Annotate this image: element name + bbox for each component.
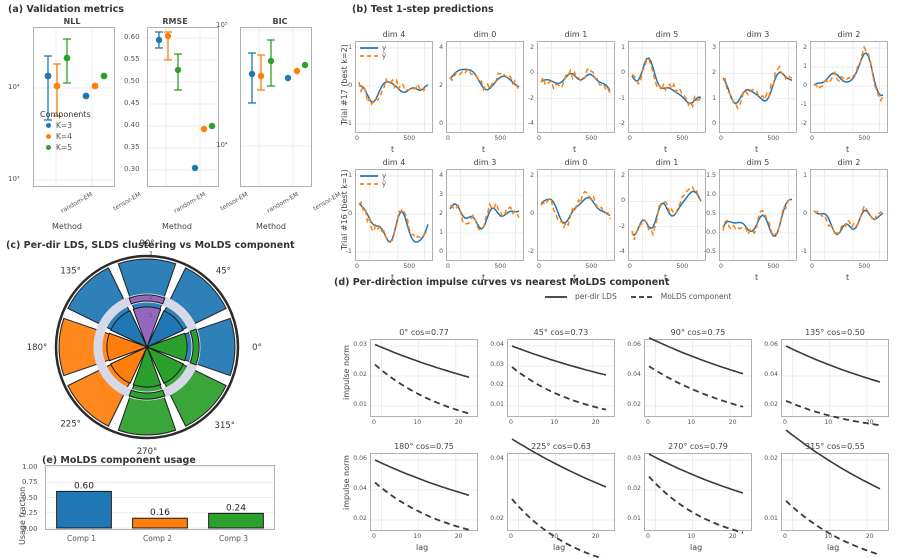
panel-d-subplot-title: 315° cos=0.55 xyxy=(781,442,889,451)
panel-d-legend: per-dir LDS MoLDS component xyxy=(545,292,731,301)
ytick: -2 xyxy=(801,120,807,127)
legend-dot-icon xyxy=(46,145,51,150)
legend-item-k3[interactable]: K=3 xyxy=(40,121,112,130)
legend-label: K=3 xyxy=(56,121,72,130)
xtick: 500 xyxy=(676,135,688,142)
panel-d-xtick: 20 xyxy=(729,533,737,540)
ytick: 3 xyxy=(712,44,716,51)
subplot-axes: yŷ xyxy=(355,169,433,261)
panel-b-cell: dim 4yŷ10-10500t xyxy=(355,30,433,133)
subplot-title: dim 4 xyxy=(355,30,433,39)
subplot-title: dim 1 xyxy=(628,158,706,167)
panel-e-ytick: 1.00 xyxy=(22,463,38,471)
xtick: 500 xyxy=(585,263,597,270)
panel-b-title: (b) Test 1-step predictions xyxy=(352,4,494,15)
ytick: 1 xyxy=(439,229,443,236)
subplot-axes xyxy=(719,41,797,133)
xtick: 500 xyxy=(858,135,870,142)
panel-e-xtick: Comp 1 xyxy=(67,534,96,543)
polar-radial-tick: 2 xyxy=(149,295,153,301)
ytick: 2 xyxy=(439,210,443,217)
panel-d-cell: 225° cos=0.630.040.0201020lag xyxy=(507,442,615,531)
panel-c-polar[interactable]: 0°45°90°135°180°225°270°315°123 xyxy=(14,252,314,447)
bar-value-label: 0.60 xyxy=(74,481,94,491)
xlabel: t xyxy=(482,145,485,154)
panel-d-xtick: 10 xyxy=(550,533,558,540)
xtick: 0 xyxy=(537,263,541,270)
subplot-axes xyxy=(719,169,797,261)
panel-e-ytick: 0.75 xyxy=(22,478,38,486)
panel-d-ytick: 0.04 xyxy=(490,341,504,348)
panel-d-axes xyxy=(781,453,889,531)
xtick: 500 xyxy=(403,263,415,270)
panel-b-cell: dim 332100500t xyxy=(719,30,797,133)
subplot-axes xyxy=(446,169,524,261)
panel-a-rmse-xtick-0: random-EM xyxy=(173,191,207,215)
subplot-title: dim 5 xyxy=(628,30,706,39)
bar[interactable] xyxy=(133,518,188,528)
ytick: 1 xyxy=(348,44,352,51)
panel-a-rmse-ytick-6: 0.30 xyxy=(124,165,140,173)
panel-d-subplot-title: 0° cos=0.77 xyxy=(370,328,478,337)
panel-d-axes xyxy=(370,339,478,417)
subplot-title: dim 0 xyxy=(537,158,615,167)
xtick: 0 xyxy=(628,263,632,270)
panel-d-xtick: 20 xyxy=(866,419,874,426)
panel-d-ytick: 0.06 xyxy=(627,341,641,348)
subplot-title: dim 2 xyxy=(810,30,888,39)
ytick: 1 xyxy=(712,95,716,102)
panel-a-title: (a) Validation metrics xyxy=(8,4,124,15)
ytick: 0 xyxy=(803,210,807,217)
panel-a-rmse-ytick-5: 0.35 xyxy=(124,143,140,151)
xtick: 500 xyxy=(494,263,506,270)
xtick: 500 xyxy=(858,263,870,270)
panel-d-ytick: 0.02 xyxy=(353,371,367,378)
panel-d-ytick: 0.02 xyxy=(627,485,641,492)
panel-d-cell: 270° cos=0.790.030.020.0101020lag xyxy=(644,442,752,531)
panel-b-cell: dim 4yŷ10-10500t xyxy=(355,158,433,261)
xtick: 0 xyxy=(446,135,450,142)
panel-d-xtick: 0 xyxy=(646,533,650,540)
legend-solid-icon xyxy=(545,294,567,300)
xlabel: t xyxy=(846,273,849,282)
legend-item[interactable]: y xyxy=(360,172,386,180)
ytick: 0.5 xyxy=(706,210,716,217)
ytick: 2 xyxy=(439,82,443,89)
panel-a-rmse-ytick-4: 0.40 xyxy=(124,121,140,129)
panel-b-cell: dim 120-2-40500t xyxy=(537,30,615,133)
legend-item[interactable]: y xyxy=(360,44,386,52)
panel-d-cell: 315° cos=0.550.020.0101020lag xyxy=(781,442,889,531)
panel-d-xtick: 10 xyxy=(550,419,558,426)
subplot-axes xyxy=(810,169,888,261)
polar-angle-label: 45° xyxy=(216,267,231,277)
panel-a-rmse-ytick-1: 0.55 xyxy=(124,55,140,63)
panel-d-ytick: 0.06 xyxy=(353,455,367,462)
panel-d-axes xyxy=(644,339,752,417)
panel-d-xtick: 10 xyxy=(413,419,421,426)
panel-d-subplot-title: 180° cos=0.75 xyxy=(370,442,478,451)
subplot-title: dim 3 xyxy=(446,158,524,167)
panel-d-xlabel: lag xyxy=(553,543,565,552)
panel-a-nll-axes: Components K=3 K=4 K=5 xyxy=(33,27,115,187)
panel-d-ytick: 0.03 xyxy=(627,455,641,462)
xtick: 0 xyxy=(810,135,814,142)
ytick: 0 xyxy=(439,248,443,255)
panel-d-ytick: 0.02 xyxy=(764,401,778,408)
ytick: 1.5 xyxy=(706,172,716,179)
subplot-title: dim 1 xyxy=(537,30,615,39)
ytick: 3 xyxy=(439,191,443,198)
panel-b-legend: yŷ xyxy=(360,172,386,188)
ytick: -2 xyxy=(528,248,534,255)
panel-a-bic-xtick-0: random-EM xyxy=(266,191,300,215)
panel-d-ytick: 0.06 xyxy=(764,341,778,348)
xlabel: t xyxy=(846,145,849,154)
ytick: 0 xyxy=(530,69,534,76)
ytick: -1 xyxy=(346,248,352,255)
panel-d-xlabel: lag xyxy=(416,543,428,552)
panel-e-ytick: 0.00 xyxy=(22,525,38,533)
panel-d-cell: 90° cos=0.750.060.040.0201020 xyxy=(644,328,752,417)
panel-d-ytick: 0.01 xyxy=(490,401,504,408)
panel-d-xtick: 20 xyxy=(455,533,463,540)
panel-d-xtick: 10 xyxy=(824,419,832,426)
ytick: 2 xyxy=(621,172,625,179)
panel-d-cell: 135° cos=0.500.060.040.0201020 xyxy=(781,328,889,417)
panel-a-rmse-xlabel: Method xyxy=(162,222,192,231)
ytick: 0 xyxy=(712,120,716,127)
xlabel: t xyxy=(573,145,576,154)
panel-a-rmse-ytick-0: 0.60 xyxy=(124,33,140,41)
panel-a-legend: Components K=3 K=4 K=5 xyxy=(40,110,112,152)
subplot-axes: yŷ xyxy=(355,41,433,133)
panel-d-xtick: 10 xyxy=(413,533,421,540)
panel-d-ytick: 0.02 xyxy=(490,515,504,522)
panel-b-cell: dim 510-1-20500t xyxy=(628,30,706,133)
subplot-axes xyxy=(628,41,706,133)
panel-a-nll-ytick-0: 10⁴ xyxy=(8,83,20,91)
legend-label: y xyxy=(382,44,386,52)
panel-b-cell: dim 3432100500t xyxy=(446,158,524,261)
panel-d-ytick: 0.01 xyxy=(627,515,641,522)
ytick: 1 xyxy=(348,172,352,179)
bar-value-label: 0.24 xyxy=(226,503,246,513)
panel-b-cell: dim 120-2-40500t xyxy=(628,158,706,261)
polar-angle-label: 225° xyxy=(60,419,80,429)
ytick: -4 xyxy=(528,120,534,127)
panel-a-rmse-axes xyxy=(147,27,219,187)
panel-d-ytick: 0.04 xyxy=(490,455,504,462)
ytick: 0.0 xyxy=(706,229,716,236)
panel-d-axes xyxy=(644,453,752,531)
ytick: 0 xyxy=(348,82,352,89)
panel-d-row0-ylabel: impulse norm xyxy=(342,345,351,400)
legend-label: K=4 xyxy=(56,132,72,141)
xtick: 500 xyxy=(676,263,688,270)
xtick: 0 xyxy=(719,263,723,270)
polar-angle-label: 0° xyxy=(252,343,262,353)
xtick: 0 xyxy=(810,263,814,270)
panel-e-axes: 0.600.160.24 xyxy=(45,465,275,530)
xtick: 0 xyxy=(537,135,541,142)
subplot-title: dim 3 xyxy=(719,30,797,39)
panel-d-xtick: 0 xyxy=(372,533,376,540)
ytick: -0.5 xyxy=(704,248,716,255)
polar-radial-tick: 1 xyxy=(149,313,153,319)
xlabel: t xyxy=(664,145,667,154)
xlabel: t xyxy=(755,273,758,282)
legend-dot-icon xyxy=(46,123,51,128)
legend-label: K=5 xyxy=(56,143,72,152)
panel-a-nll-ytick-1: 10³ xyxy=(8,175,20,183)
legend-label: ŷ xyxy=(382,52,386,60)
panel-d-xlabel: lag xyxy=(690,543,702,552)
ytick: -4 xyxy=(619,248,625,255)
panel-d-cell: 180° cos=0.750.060.040.0201020lag xyxy=(370,442,478,531)
xtick: 0 xyxy=(719,135,723,142)
panel-d-xtick: 20 xyxy=(455,419,463,426)
ytick: -2 xyxy=(619,120,625,127)
panel-e-ytick: 0.25 xyxy=(22,509,38,517)
panel-d-xtick: 0 xyxy=(646,419,650,426)
subplot-axes xyxy=(810,41,888,133)
ytick: 2 xyxy=(803,44,807,51)
panel-d-xtick: 0 xyxy=(783,533,787,540)
panel-a-rmse-title: RMSE xyxy=(140,17,210,26)
panel-a-nll-xtick-1: tensor-EM xyxy=(112,191,142,212)
panel-a-bic-xtick-1: tensor-EM xyxy=(312,191,342,212)
panel-a-rmse-ytick-3: 0.45 xyxy=(124,99,140,107)
legend-title: Components xyxy=(40,110,112,119)
panel-b-cell: dim 020-20500t xyxy=(537,158,615,261)
panel-d-ytick: 0.01 xyxy=(764,515,778,522)
bar-value-label: 0.16 xyxy=(150,508,170,518)
legend-item-k5[interactable]: K=5 xyxy=(40,143,112,152)
panel-e-xtick: Comp 2 xyxy=(143,534,172,543)
subplot-axes xyxy=(446,41,524,133)
ytick: 0 xyxy=(621,197,625,204)
polar-angle-label: 135° xyxy=(60,267,80,277)
panel-b-cell: dim 04200500t xyxy=(446,30,524,133)
panel-a-bic-title: BIC xyxy=(245,17,315,26)
ytick: -1 xyxy=(346,120,352,127)
panel-d-xtick: 0 xyxy=(783,419,787,426)
subplot-title: dim 4 xyxy=(355,158,433,167)
xtick: 500 xyxy=(767,135,779,142)
subplot-axes xyxy=(537,169,615,261)
panel-a-bic-ytick-1: 10⁴ xyxy=(216,141,228,149)
panel-b-cell: dim 210-10500t xyxy=(810,158,888,261)
xtick: 0 xyxy=(446,263,450,270)
panel-d-ytick: 0.04 xyxy=(353,485,367,492)
panel-a-bic-axes xyxy=(240,27,312,187)
panel-b-legend: yŷ xyxy=(360,44,386,60)
ytick: 4 xyxy=(439,44,443,51)
xlabel: t xyxy=(391,145,394,154)
xtick: 500 xyxy=(403,135,415,142)
panel-d-xtick: 0 xyxy=(509,533,513,540)
ytick: 0 xyxy=(439,120,443,127)
ytick: 2 xyxy=(530,172,534,179)
panel-d-subplot-title: 135° cos=0.50 xyxy=(781,328,889,337)
bar[interactable] xyxy=(209,513,264,528)
panel-d-axes xyxy=(781,339,889,417)
panel-d-xlabel: lag xyxy=(827,543,839,552)
panel-d-ytick: 0.04 xyxy=(764,371,778,378)
xtick: 0 xyxy=(355,263,359,270)
panel-d-axes xyxy=(507,339,615,417)
ytick: 0 xyxy=(348,210,352,217)
legend-item[interactable]: ŷ xyxy=(360,180,386,188)
panel-d-ytick: 0.02 xyxy=(353,515,367,522)
panel-d-ytick: 0.01 xyxy=(353,401,367,408)
ytick: 1 xyxy=(803,63,807,70)
subplot-axes xyxy=(537,41,615,133)
panel-a-rmse-xtick-1: tensor-EM xyxy=(219,191,249,212)
panel-a-rmse-ytick-2: 0.50 xyxy=(124,77,140,85)
panel-d-subplot-title: 45° cos=0.73 xyxy=(507,328,615,337)
panel-d-title: (d) Per-direction impulse curves vs near… xyxy=(334,277,669,288)
panel-d-row1-ylabel: impulse norm xyxy=(342,455,351,510)
ytick: 1 xyxy=(621,44,625,51)
panel-d-xtick: 20 xyxy=(729,419,737,426)
legend-label: y xyxy=(382,172,386,180)
panel-d-ytick: 0.02 xyxy=(764,455,778,462)
panel-d-axes xyxy=(507,453,615,531)
subplot-title: dim 2 xyxy=(810,158,888,167)
legend-item[interactable]: ŷ xyxy=(360,52,386,60)
panel-a-nll-xtick-0: random-EM xyxy=(60,191,94,215)
panel-a-bic-xlabel: Method xyxy=(256,222,286,231)
panel-a-nll-title: NLL xyxy=(27,17,117,26)
xtick: 500 xyxy=(494,135,506,142)
panel-b-cell: dim 51.51.00.50.0-0.50500t xyxy=(719,158,797,261)
panel-d-axes xyxy=(370,453,478,531)
polar-angle-label: 180° xyxy=(27,343,47,353)
ytick: 1 xyxy=(803,172,807,179)
panel-a-bic-ytick-0: 10⁵ xyxy=(216,21,228,29)
polar-angle-label: 315° xyxy=(215,421,235,431)
legend-item-k4[interactable]: K=4 xyxy=(40,132,112,141)
panel-d-ytick: 0.03 xyxy=(353,341,367,348)
panel-d-xtick: 20 xyxy=(866,533,874,540)
panel-d-subplot-title: 90° cos=0.75 xyxy=(644,328,752,337)
xtick: 500 xyxy=(767,263,779,270)
panel-d-ytick: 0.04 xyxy=(627,371,641,378)
panel-d-xtick: 10 xyxy=(687,419,695,426)
legend-label-perdir: per-dir LDS xyxy=(575,292,617,301)
subplot-title: dim 0 xyxy=(446,30,524,39)
subplot-axes xyxy=(628,169,706,261)
ytick: 2 xyxy=(712,69,716,76)
legend-dashed-icon xyxy=(631,294,653,300)
xlabel: t xyxy=(755,145,758,154)
panel-d-ytick: 0.03 xyxy=(490,361,504,368)
polar-radial-tick: 3 xyxy=(149,251,153,257)
panel-b-cell: dim 2210-1-20500t xyxy=(810,30,888,133)
ytick: 0 xyxy=(803,82,807,89)
legend-label: ŷ xyxy=(382,180,386,188)
panel-d-xtick: 10 xyxy=(824,533,832,540)
xtick: 0 xyxy=(628,135,632,142)
ytick: 2 xyxy=(530,44,534,51)
panel-d-cell: 45° cos=0.730.040.030.020.0101020 xyxy=(507,328,615,417)
ytick: -1 xyxy=(801,101,807,108)
ytick: 4 xyxy=(439,172,443,179)
ytick: -1 xyxy=(619,95,625,102)
ytick: 0 xyxy=(530,210,534,217)
panel-e-xtick: Comp 3 xyxy=(219,534,248,543)
ytick: -2 xyxy=(619,223,625,230)
panel-e-ytick: 0.50 xyxy=(22,494,38,502)
panel-d-cell: 0° cos=0.770.030.020.0101020 xyxy=(370,328,478,417)
panel-d-xtick: 10 xyxy=(687,533,695,540)
polar-angle-label: 90° xyxy=(139,239,154,249)
ytick: -1 xyxy=(801,248,807,255)
panel-d-subplot-title: 270° cos=0.79 xyxy=(644,442,752,451)
xtick: 0 xyxy=(355,135,359,142)
legend-label-molds: MoLDS component xyxy=(661,292,732,301)
bar[interactable] xyxy=(57,491,112,528)
panel-a-nll-xlabel: Method xyxy=(52,222,82,231)
panel-d-xtick: 20 xyxy=(592,533,600,540)
panel-d-xtick: 0 xyxy=(509,419,513,426)
ytick: 1.0 xyxy=(706,191,716,198)
panel-d-ytick: 0.02 xyxy=(490,381,504,388)
panel-d-ytick: 0.02 xyxy=(627,401,641,408)
panel-d-xtick: 0 xyxy=(372,419,376,426)
ytick: 0 xyxy=(621,69,625,76)
legend-dot-icon xyxy=(46,134,51,139)
ytick: -2 xyxy=(528,95,534,102)
subplot-title: dim 5 xyxy=(719,158,797,167)
xtick: 500 xyxy=(585,135,597,142)
panel-d-xtick: 20 xyxy=(592,419,600,426)
